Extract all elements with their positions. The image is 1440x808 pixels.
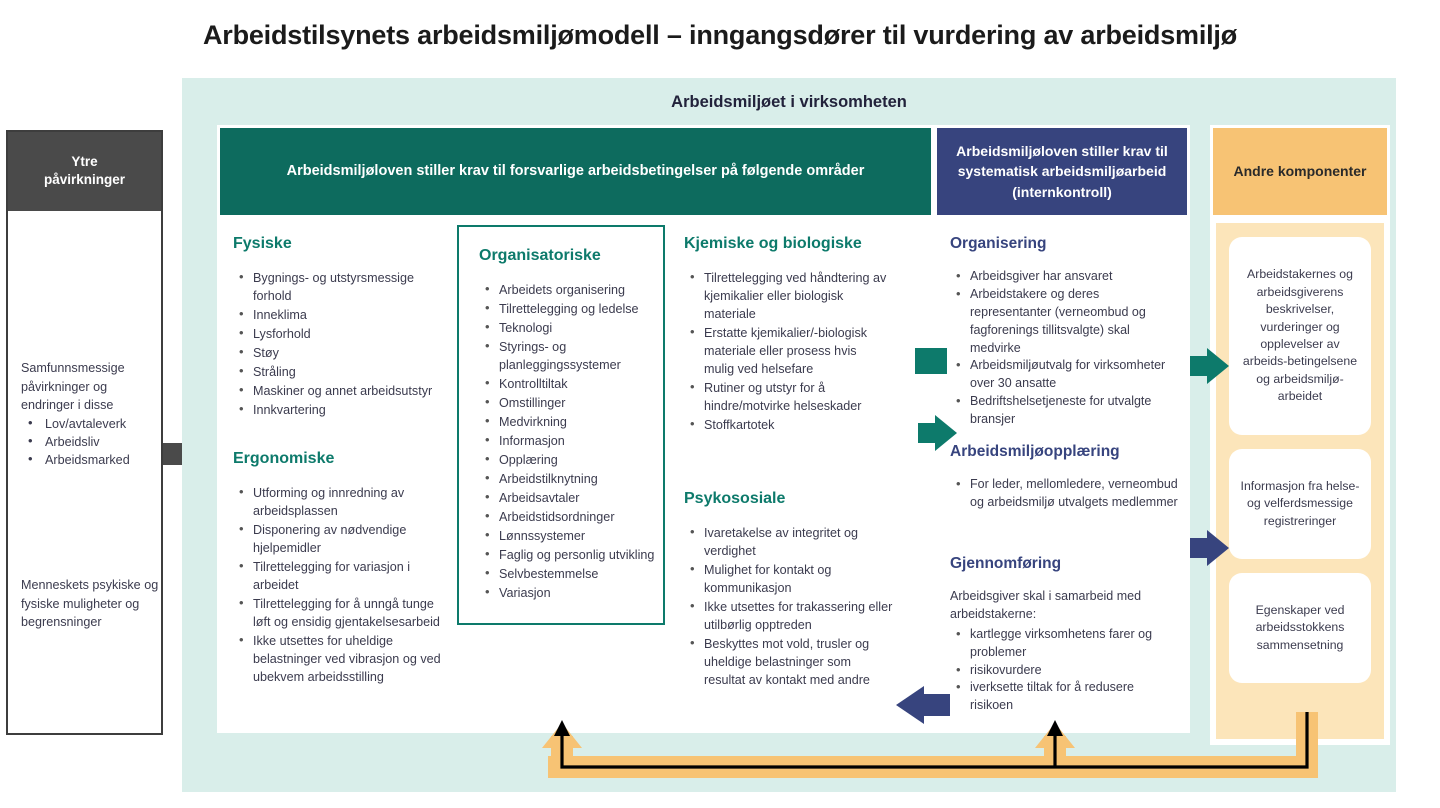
section-title-gjennomforing: Gjennomføring: [950, 555, 1178, 573]
list-item: Lysforhold: [253, 325, 438, 343]
list-item: Innkvartering: [253, 401, 438, 419]
list-item: Arbeidsavtaler: [499, 489, 659, 507]
list-gjennomforing: kartlegge virksomhetens farer og problem…: [950, 626, 1178, 715]
list-item: Styrings- og planleggingssystemer: [499, 338, 659, 374]
arbeidsmiljoet-panel: Arbeidsmiljøet i virksomheten Arbeidsmil…: [182, 78, 1396, 792]
list-item: Stråling: [253, 363, 438, 381]
ytre-header-line-1: Ytre: [14, 153, 155, 171]
list-psykososiale: Ivaretakelse av integritet og verdighet …: [684, 524, 894, 689]
list-ergonomiske: Utforming og innredning av arbeidsplasse…: [233, 484, 445, 686]
arrow-head: [1207, 530, 1229, 566]
list-item: Maskiner og annet arbeidsutstyr: [253, 382, 438, 400]
ytre-header-line-2: påvirkninger: [14, 171, 155, 189]
list-item: risikovurdere: [970, 662, 1178, 680]
column-title-ergonomiske: Ergonomiske: [233, 450, 445, 468]
column-fysiske: Fysiske Bygnings- og utstyrsmessige forh…: [233, 235, 438, 420]
list-item: Rutiner og utstyr for å hindre/motvirke …: [704, 379, 889, 415]
card-a-header: Arbeidsmiljøloven stiller krav til forsv…: [220, 128, 931, 215]
list-opplaering: For leder, mellomledere, verneombud og a…: [950, 476, 1178, 512]
green-square-connector-icon: [915, 348, 947, 374]
list-item: Inneklima: [253, 306, 438, 324]
list-fysiske: Bygnings- og utstyrsmessige forhold Inne…: [233, 269, 438, 419]
diagram-root: Arbeidstilsynets arbeidsmiljømodell – in…: [0, 0, 1440, 808]
list-item: Ikke utsettes for trakassering eller uti…: [704, 598, 894, 634]
arrow-head: [1207, 348, 1229, 384]
list-item: Støy: [253, 344, 438, 362]
list-organisatoriske: Arbeidets organisering Tilrettelegging o…: [479, 281, 659, 602]
list-item: Teknologi: [499, 319, 659, 337]
column-kjemiske-biologiske: Kjemiske og biologiske Tilrettelegging v…: [684, 235, 889, 435]
section-organisering: Organisering Arbeidsgiver har ansvaret A…: [950, 235, 1178, 429]
card-b-header: Arbeidsmiljøloven stiller krav til syste…: [937, 128, 1187, 215]
list-item: Stoffkartotek: [704, 416, 889, 434]
card-arbeidsbetingelser: Arbeidsmiljøloven stiller krav til forsv…: [217, 125, 934, 733]
list-item: Arbeidstakere og deres representanter (v…: [970, 286, 1178, 358]
ytre-block1-lead: Samfunnsmessige påvirkninger og endringe…: [21, 359, 161, 414]
list-item: Opplæring: [499, 451, 659, 469]
ytre-block-menneskets: Menneskets psykiske og fysiske mulighete…: [21, 576, 161, 631]
list-item: Tilrettelegging for variasjon i arbeidet: [253, 558, 445, 594]
card-systematisk-arbeidsmiljoarbeid: Arbeidsmiljøloven stiller krav til syste…: [934, 125, 1190, 733]
arrow-stem: [922, 694, 950, 716]
list-item: Arbeidsliv: [43, 433, 161, 451]
column-organisatoriske-box: Organisatoriske Arbeidets organisering T…: [457, 225, 665, 625]
list-item: Arbeidets organisering: [499, 281, 659, 299]
card-c-body: Arbeidstakernes og arbeidsgiverens beskr…: [1216, 223, 1384, 739]
list-item: Tilrettelegging ved håndtering av kjemik…: [704, 269, 889, 323]
page-title: Arbeidstilsynets arbeidsmiljømodell – in…: [0, 20, 1440, 51]
ytre-pavirkninger-header: Ytre påvirkninger: [8, 132, 161, 211]
section-title-opplaering: Arbeidsmiljøopplæring: [950, 443, 1178, 461]
list-item: Arbeidsmarked: [43, 451, 161, 469]
section-title-organisering: Organisering: [950, 235, 1178, 253]
list-item: Tilrettelegging og ledelse: [499, 300, 659, 318]
list-item: Mulighet for kontakt og kommunikasjon: [704, 561, 894, 597]
section-gjennomforing: Gjennomføring Arbeidsgiver skal i samarb…: [950, 555, 1178, 715]
list-item: Variasjon: [499, 584, 659, 602]
list-item: For leder, mellomledere, verneombud og a…: [970, 476, 1178, 512]
list-item: Ivaretakelse av integritet og verdighet: [704, 524, 894, 560]
list-item: kartlegge virksomhetens farer og problem…: [970, 626, 1178, 662]
andre-komponent-box-1: Arbeidstakernes og arbeidsgiverens beskr…: [1229, 237, 1371, 435]
card-andre-komponenter: Andre komponenter Arbeidstakernes og arb…: [1210, 125, 1390, 745]
ytre-block1-list: Lov/avtaleverk Arbeidsliv Arbeidsmarked: [21, 415, 161, 470]
list-item: Arbeidstidsordninger: [499, 508, 659, 526]
ytre-block-samfunnsmessige: Samfunnsmessige påvirkninger og endringe…: [21, 359, 161, 469]
ytre-body: Samfunnsmessige påvirkninger og endringe…: [8, 211, 161, 726]
section-arbeidsmiljoopplaering: Arbeidsmiljøopplæring For leder, melloml…: [950, 443, 1178, 512]
panel-heading: Arbeidsmiljøet i virksomheten: [182, 93, 1396, 112]
column-title-psykososiale: Psykososiale: [684, 490, 894, 508]
list-item: Arbeidsgiver har ansvaret: [970, 268, 1178, 286]
list-item: Arbeidstilknytning: [499, 470, 659, 488]
column-ergonomiske: Ergonomiske Utforming og innredning av a…: [233, 450, 445, 687]
card-c-header: Andre komponenter: [1213, 128, 1387, 215]
list-item: Bedriftshelsetjeneste for utvalgte brans…: [970, 393, 1178, 429]
list-item: Omstillinger: [499, 394, 659, 412]
list-item: Disponering av nødvendige hjelpemidler: [253, 521, 445, 557]
list-item: Selvbestemmelse: [499, 565, 659, 583]
arrow-head: [935, 415, 957, 451]
list-item: Lønnssystemer: [499, 527, 659, 545]
list-item: Ikke utsettes for uheldige belastninger …: [253, 632, 445, 686]
list-item: Beskyttes mot vold, trusler og uheldige …: [704, 635, 894, 689]
list-item: Erstatte kjemikalier/-biologisk material…: [704, 324, 889, 378]
column-title-fysiske: Fysiske: [233, 235, 438, 253]
column-psykososiale: Psykososiale Ivaretakelse av integritet …: [684, 490, 894, 690]
column-title-organisatoriske: Organisatoriske: [479, 247, 659, 265]
list-item: Tilrettelegging for å unngå tunge løft o…: [253, 595, 445, 631]
column-organisatoriske: Organisatoriske Arbeidets organisering T…: [479, 247, 659, 603]
gjennomforing-lead: Arbeidsgiver skal i samarbeid med arbeid…: [950, 588, 1178, 624]
list-item: Medvirkning: [499, 413, 659, 431]
list-kjemiske: Tilrettelegging ved håndtering av kjemik…: [684, 269, 889, 434]
andre-komponent-box-2: Informasjon fra helse- og velferdsmessig…: [1229, 449, 1371, 559]
list-item: Utforming og innredning av arbeidsplasse…: [253, 484, 445, 520]
list-item: Arbeidsmiljøutvalg for virksomheter over…: [970, 357, 1178, 393]
list-item: Lov/avtaleverk: [43, 415, 161, 433]
list-item: Bygnings- og utstyrsmessige forhold: [253, 269, 438, 305]
ytre-pavirkninger-column: Ytre påvirkninger Samfunnsmessige påvirk…: [6, 130, 163, 735]
list-item: Kontrolltiltak: [499, 375, 659, 393]
arrow-head: [896, 686, 924, 724]
list-item: Faglig og personlig utvikling: [499, 546, 659, 564]
list-item: Informasjon: [499, 432, 659, 450]
list-organisering: Arbeidsgiver har ansvaret Arbeidstakere …: [950, 268, 1178, 429]
column-title-kjemiske: Kjemiske og biologiske: [684, 235, 889, 253]
andre-komponent-box-3: Egenskaper ved arbeidsstokkens sammenset…: [1229, 573, 1371, 683]
list-item: iverksette tiltak for å redusere risikoe…: [970, 679, 1178, 715]
